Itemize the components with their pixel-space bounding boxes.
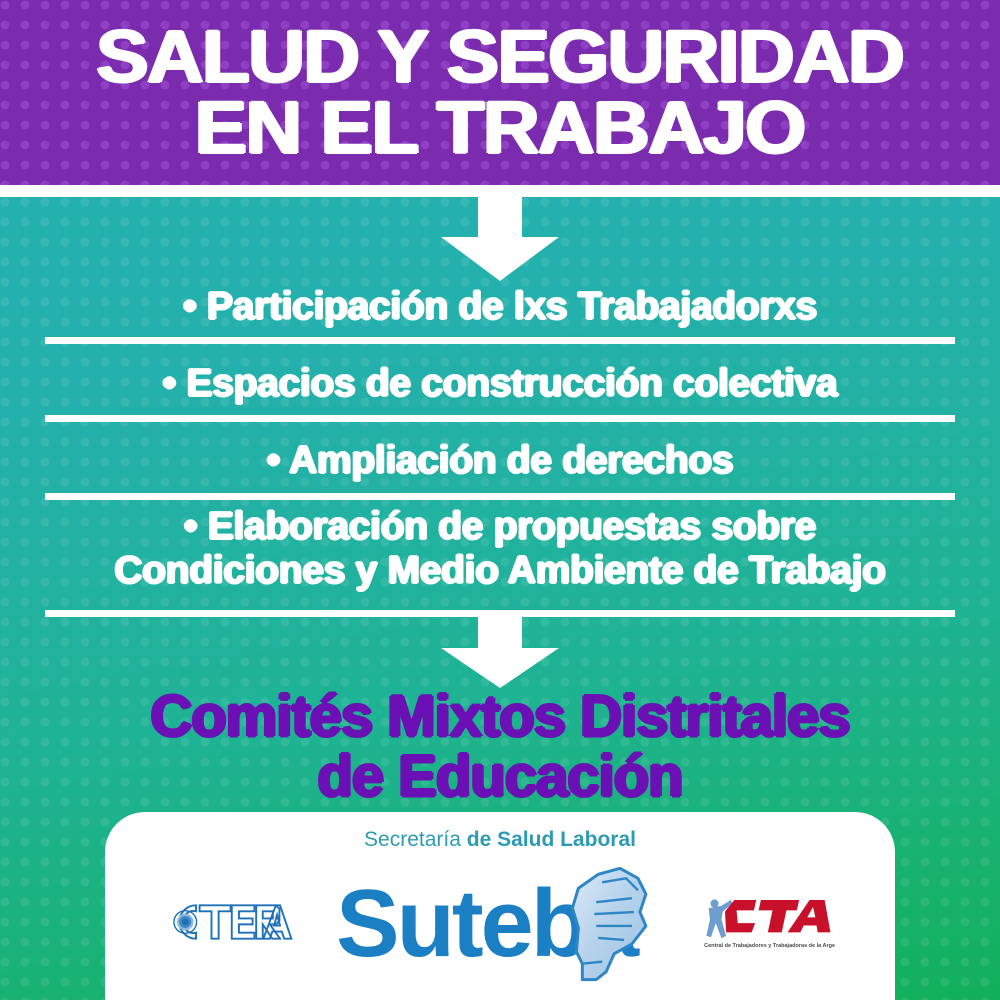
list-item: • Participación de lxs Trabajadorxs — [0, 285, 1000, 329]
poster-header: SALUD Y SEGURIDAD EN EL TRABAJO — [0, 0, 1000, 185]
list-item: • Ampliación de derechos — [0, 439, 1000, 483]
arrow-down-top-icon — [440, 197, 560, 281]
arrow-down-bottom-icon — [440, 612, 560, 688]
cta-logo: Central de Trabajadores y Trabajadoras d… — [696, 887, 835, 957]
conclusion-line-1: Comités Mixtos Distritales — [0, 687, 1000, 747]
divider-1 — [45, 337, 955, 344]
logo-row: Suteba — [105, 852, 895, 1000]
card-title-bold: de Salud Laboral — [461, 828, 636, 851]
divider-2 — [45, 415, 955, 422]
poster-canvas: SALUD Y SEGURIDAD EN EL TRABAJO • Partic… — [0, 0, 1000, 1000]
header-title-line-1: SALUD Y SEGURIDAD — [97, 23, 904, 92]
divider-3 — [45, 493, 955, 500]
suteba-logo: Suteba — [332, 864, 660, 984]
cta-caption: Central de Trabajadores y Trabajadoras d… — [704, 943, 835, 949]
footer-card: Secretaría de Salud Laboral — [105, 812, 895, 1000]
conclusion-line-2: de Educación — [0, 747, 1000, 807]
card-title: Secretaría de Salud Laboral — [364, 828, 636, 852]
list-item: • Elaboración de propuestas sobre Condic… — [0, 505, 1000, 592]
list-item-line-2: Condiciones y Medio Ambiente de Trabajo — [0, 549, 1000, 593]
card-title-light: Secretaría — [364, 828, 461, 851]
conclusion-headline: Comités Mixtos Distritales de Educación — [0, 687, 1000, 808]
header-title-line-2: EN EL TRABAJO — [195, 94, 805, 163]
list-item-line-1: • Elaboración de propuestas sobre — [0, 505, 1000, 549]
list-item: • Espacios de construcción colectiva — [0, 362, 1000, 406]
ctera-logo — [165, 891, 296, 953]
